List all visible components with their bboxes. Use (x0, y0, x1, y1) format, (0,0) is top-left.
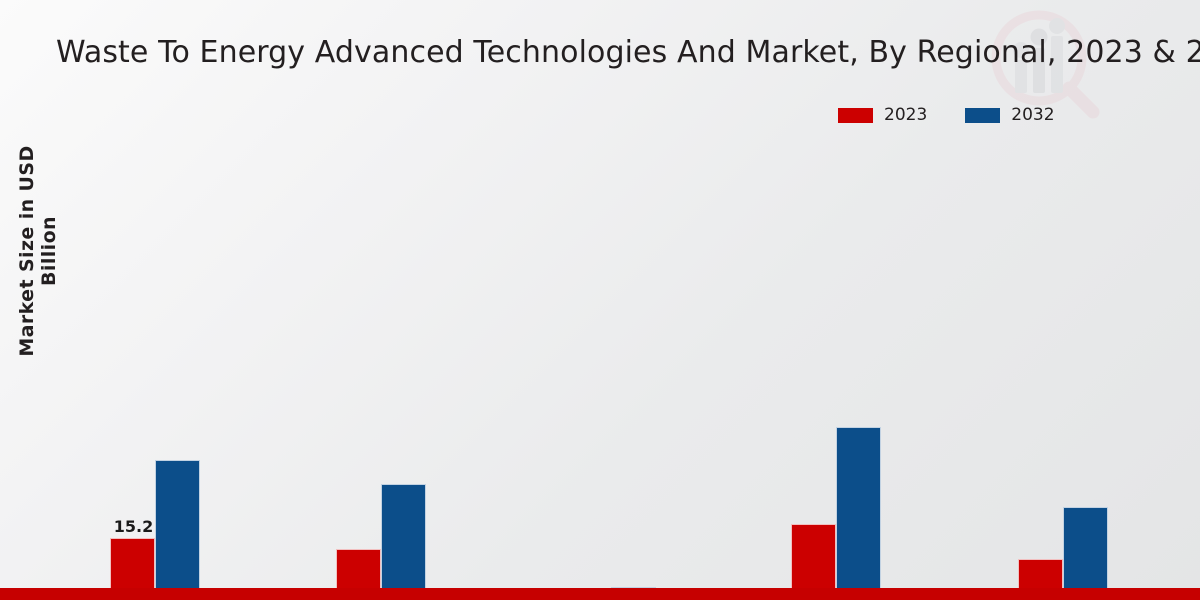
legend-item-2032[interactable]: 2032 (965, 105, 1054, 125)
bar-2032[interactable] (381, 484, 426, 600)
bar-value-label: 15.2 (110, 517, 157, 536)
bar-group (1018, 150, 1108, 452)
footer-accent-bar (0, 588, 1200, 600)
legend-swatch-2032 (965, 108, 1000, 123)
bar-2032[interactable] (155, 460, 200, 600)
legend-label-2032: 2032 (1011, 105, 1054, 125)
chart-title: Waste To Energy Advanced Technologies An… (56, 33, 1200, 73)
bar-2032[interactable] (1063, 507, 1108, 600)
legend-swatch-2023 (838, 108, 873, 123)
legend-item-2023[interactable]: 2023 (838, 105, 927, 125)
bar-group (566, 150, 656, 452)
bar-group (791, 150, 881, 452)
plot-area: 15.2 NORTHAMERICAEUROPESOUTHAMERICAASIAP… (42, 150, 1200, 452)
chart-legend: 2023 2032 (838, 105, 1055, 125)
bar-group: 15.2 (110, 150, 200, 452)
chart-canvas: Waste To Energy Advanced Technologies An… (0, 0, 1200, 600)
legend-label-2023: 2023 (884, 105, 927, 125)
bar-group (336, 150, 426, 452)
bar-2032[interactable] (836, 427, 881, 600)
